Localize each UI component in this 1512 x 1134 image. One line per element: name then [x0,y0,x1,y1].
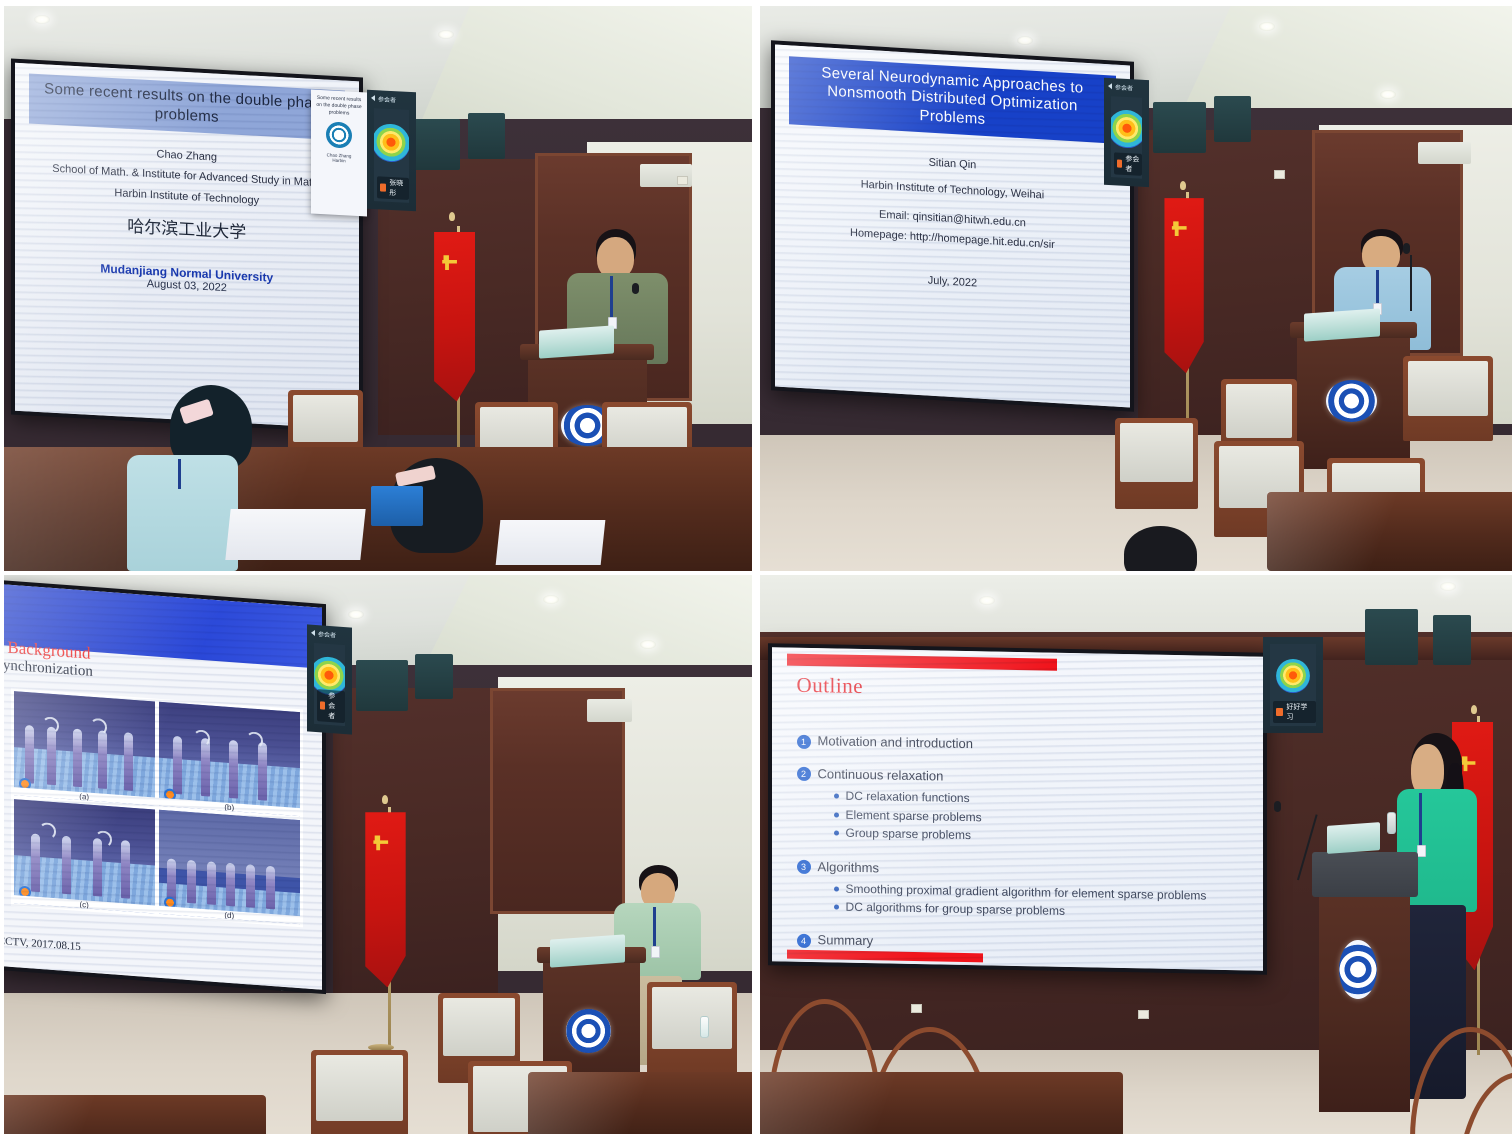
presenter-laptop [1304,308,1380,342]
water-bottle [1387,812,1396,834]
university-seal-icon [1339,940,1377,999]
flag-finial [1471,705,1477,714]
outline-text: Continuous relaxation [817,767,943,784]
slide-cjk-name: 哈尔滨工业大学 [29,207,345,249]
figure-grid: (a) (b) [10,688,302,927]
table-reflection [4,1095,266,1134]
downlight [438,30,454,39]
slide-outline: Outline 1 Motivation and introduction 2 … [772,648,1263,971]
microphone-muted-icon [1276,708,1284,716]
participant-name-chip: 参会者 [317,689,345,723]
participant-name-chip: 好好学习 [1273,701,1316,723]
projection-screen: Background Synchronization (a) [4,580,326,994]
audience-hair [1124,526,1197,571]
slide-title-band: Some recent results on the double phase … [29,74,345,141]
panel-top-left: Some recent results on the double phase … [4,6,752,571]
outline-text: Algorithms [817,859,878,875]
ceiling-speaker [1365,609,1418,666]
video-conference-sidebar[interactable]: 参会者 参会者 [1104,78,1149,188]
door [490,688,625,914]
presenter-laptop [539,325,614,358]
downlight [348,610,364,619]
panel-top-right: Several Neurodynamic Approaches to Nonsm… [760,6,1512,571]
conference-table [1267,492,1512,571]
figure-cell: (a) [13,691,154,805]
participant-name: 参会者 [328,691,342,722]
participant-name: 好好学习 [1286,702,1313,722]
participant-tile[interactable]: 好好学习 [1270,644,1316,726]
wall-ac-unit [587,699,632,722]
table-reflection [1267,492,1512,571]
presenter-laptop [1327,822,1380,854]
downlight [1380,90,1396,99]
outline-item: 2 Continuous relaxation DC relaxation fu… [796,765,1233,850]
lanyard-strap [610,276,613,320]
downlight [34,15,50,24]
conference-table-front [4,1095,266,1134]
sidebar-topbar-label: 参会者 [378,94,396,104]
outline-number: 2 [796,767,810,781]
video-conference-sidebar[interactable]: 参会者 参会者 [307,624,352,734]
slide-background: Background Synchronization (a) [4,584,322,989]
university-seal-icon [326,121,352,148]
slide-accent-bar-top [786,654,1056,671]
sidebar-topbar[interactable]: 参会者 [311,628,348,641]
audience-torso [127,455,238,571]
outline-item: 3 Algorithms Smoothing proximal gradient… [796,858,1233,925]
downlight [1440,582,1456,591]
ceiling-speaker [1214,96,1252,141]
slide-source: CCTV, 2017.08.15 [4,935,80,953]
participant-tile[interactable]: 参会者 [314,643,345,727]
university-seal-icon [566,1009,611,1053]
podium [1319,886,1410,1112]
party-flag [365,812,405,987]
ceiling-speaker [356,660,408,711]
id-badge [1417,845,1426,857]
microphone-muted-icon [380,183,386,191]
chair [311,1050,408,1134]
microphone-head-icon [1274,801,1281,812]
participant-name-chip: 参会者 [1114,153,1142,176]
lanyard-strap [178,459,181,489]
wall-outlet [911,1004,922,1013]
outline-text: Motivation and introduction [817,734,972,752]
participant-avatar [374,123,409,163]
printed-handout [495,520,604,565]
panel-bottom-left: Background Synchronization (a) [4,575,752,1134]
lanyard-strap [1419,793,1422,853]
screen-surface: Several Neurodynamic Approaches to Nonsm… [775,45,1130,408]
table-reflection [528,1072,752,1134]
ceiling-speaker [408,119,460,170]
slide-title: Some recent results on the double phase … [15,63,359,430]
panel-bottom-right: Outline 1 Motivation and introduction 2 … [760,575,1512,1134]
wall-outlet [677,176,688,185]
participant-tile[interactable]: 参会者 [1111,97,1142,180]
slide-thumbnail-card: Some recent results on the double phase … [311,89,367,216]
figure-cell: (c) [13,799,154,913]
figure-cell: (b) [158,702,299,816]
wall-ac-unit [1418,142,1471,165]
downlight [640,640,656,649]
lanyard-strap [653,907,656,949]
participant-avatar [1111,109,1142,149]
microphone-muted-icon [320,702,325,710]
wall-outlet [1274,170,1285,179]
slide-title-band: Several Neurodynamic Approaches to Nonsm… [790,56,1117,144]
figure-cell: (d) [158,810,299,924]
screen-surface: Outline 1 Motivation and introduction 2 … [772,648,1263,971]
projection-screen: Outline 1 Motivation and introduction 2 … [768,644,1267,976]
chair [647,982,737,1078]
slide-accent-bar-bottom [786,950,982,963]
id-badge [651,946,660,958]
flag-finial [449,212,455,221]
conference-table [528,1072,752,1134]
outline-number: 3 [796,860,810,874]
sidebar-topbar[interactable]: 参会者 [1108,81,1145,93]
slide-heading: Outline [796,673,863,699]
flag-finial [382,795,388,804]
participant-name-chip: 张晓彤 [377,176,409,200]
conference-table [760,1072,1123,1134]
outline-list: 1 Motivation and introduction 2 Continuo… [796,717,1233,956]
participant-avatar [1276,659,1310,693]
sidebar-topbar-label: 参会者 [1115,82,1133,92]
outline-number: 4 [796,934,810,948]
participant-name: 张晓彤 [389,177,405,198]
chevron-left-icon[interactable] [311,630,315,636]
photo-collage: Some recent results on the double phase … [0,0,1512,1134]
microphone-head-icon [1403,243,1410,254]
wall-outlet [1138,1010,1149,1019]
microphone-stand [1410,255,1412,312]
table-reflection [760,1072,1123,1134]
chair [1403,356,1494,441]
chevron-left-icon[interactable] [371,95,375,101]
downlight [543,595,559,604]
wood-wall-panel [333,688,498,993]
lanyard-strap [1376,270,1379,305]
ceiling-speaker [1433,615,1471,666]
flag-finial [1180,181,1186,190]
participant-name: 参会者 [1125,155,1139,176]
ceiling-speaker [415,654,452,699]
chevron-left-icon[interactable] [1108,83,1112,89]
notebook [371,486,423,526]
audience-person [1115,526,1206,571]
sidebar-topbar-label: 参会者 [318,629,336,639]
chair [1115,418,1198,508]
microphone-muted-icon [1117,160,1122,168]
presenter-laptop [550,934,625,967]
sidebar-topbar[interactable]: 参会者 [371,93,412,105]
thumbnail-title: Some recent results on the double phase … [316,95,362,118]
slide-title: Several Neurodynamic Approaches to Nonsm… [775,45,1130,408]
video-conference-sidebar[interactable]: 参会者 张晓彤 [367,89,416,210]
water-bottle [700,1016,709,1038]
projection-screen: Several Neurodynamic Approaches to Nonsm… [771,40,1134,412]
outline-item: 1 Motivation and introduction [796,733,1233,757]
party-flag [434,232,475,402]
outline-number: 1 [796,735,810,749]
ceiling-speaker [468,113,505,158]
microphone-head-icon [632,283,639,294]
outline-subitem: Group sparse problems [833,824,981,845]
participant-tile[interactable]: 张晓彤 [374,108,409,202]
printed-handout [226,509,366,560]
downlight [1017,36,1033,45]
screen-surface: Background Synchronization (a) [4,584,322,989]
podium [1297,334,1410,470]
university-seal-icon [1326,380,1377,422]
screen-surface: Some recent results on the double phase … [15,63,359,430]
downlight [979,596,995,605]
video-conference-sidebar[interactable]: 好好学习 [1263,637,1323,733]
ceiling-speaker [1153,102,1206,153]
podium-reading-shelf [1312,852,1418,897]
outline-text: Summary [817,933,873,949]
slide-date: July, 2022 [790,264,1117,300]
party-flag [1164,198,1203,373]
